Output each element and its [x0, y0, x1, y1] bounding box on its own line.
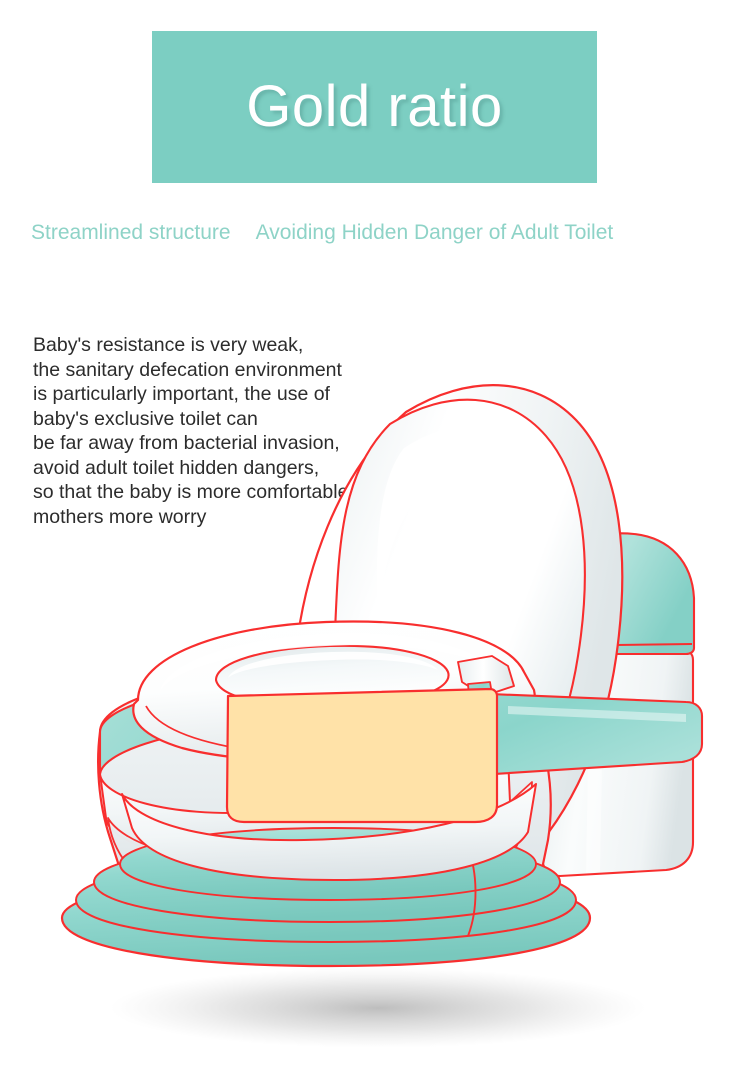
product-illustration: [38, 262, 738, 1062]
subtitle-row: Streamlined structure Avoiding Hidden Da…: [31, 218, 731, 248]
product-marketing-banner: Gold ratio Streamlined structure Avoidin…: [0, 0, 750, 1091]
drop-shadow: [110, 968, 646, 1048]
page-title: Gold ratio: [246, 78, 502, 136]
golden-ratio-marker-rect: [227, 689, 497, 822]
subtitle-left: Streamlined structure: [31, 218, 231, 248]
title-banner: Gold ratio: [152, 31, 597, 183]
product-illustration-svg: [38, 262, 738, 1062]
subtitle-right: Avoiding Hidden Danger of Adult Toilet: [256, 218, 614, 248]
